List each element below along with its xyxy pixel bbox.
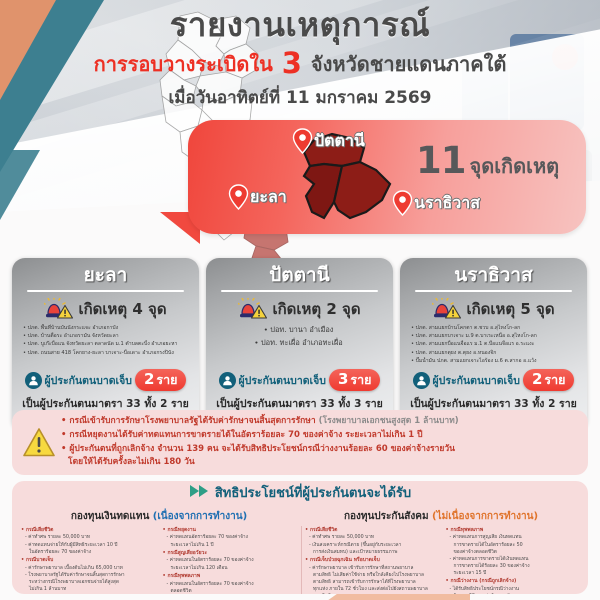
injured-count-unit: ราย	[350, 372, 371, 388]
incident-count-number: 11	[416, 142, 466, 179]
list-item: ค่าทดแทนอัตราร้อยละ 70 ของค่าจ้าง	[167, 534, 297, 541]
list-item: กรณีเข้ารับการรักษาโรงพยาบาลรัฐได้รับค่า…	[61, 415, 459, 429]
list-item: การส่งเงินสมทบ) และเป้าหมายธรรมภาพ	[309, 549, 438, 556]
list-item: ปภต. บูเก๊ะบือแน จังหวัดยะลา ตลาดนัด ม.1…	[23, 340, 191, 348]
province-card-yala[interactable]: ยะลา เกิดเหตุ 4 จุด ปภ	[12, 258, 199, 432]
map-pin-label: นราธิวาส	[414, 191, 480, 216]
list-item: ในอัตราร้อยละ 70 ของค่าจ้าง	[25, 549, 155, 556]
list-item: ไม่เกิน 1 ล้านบาท	[25, 586, 155, 593]
benefits-panel: สิทธิประโยชน์ที่ผู้ประกันตนจะได้รับ กองท…	[12, 481, 588, 594]
benefits-title-row: สิทธิประโยชน์ที่ผู้ประกันตนจะได้รับ	[18, 484, 582, 503]
map-pin-label: ปัตตานี	[314, 129, 365, 154]
card-location-list: ปอท. บานา อำเมือง ปอท. ทะเผื่อ อำเภอทะเผ…	[212, 324, 387, 362]
benefit-group-list: กรณีทุพพลภาพ ค่าทดแทนการสูญเสีย เงินทดแท…	[446, 527, 580, 594]
double-chevron-right-icon	[189, 484, 211, 503]
benefit-detail-list: ค่ารักษาพยาบาล เบื้องต้นไม่เกิน 65,000 บ…	[25, 565, 155, 594]
benefit-detail-list: ค่าทำศพ รายละ 50,000 บาท เงินสงเคราะห์กร…	[309, 534, 438, 556]
list-item: ปภต. ถนนสาย 418 โคกยาง-ยะลา บาเจาะ-บือเด…	[23, 349, 191, 357]
map-pin-pattani[interactable]: ปัตตานี	[292, 128, 365, 154]
subtitle-after-text: จังหวัดชายแดนภาคใต้	[311, 52, 507, 76]
benefit-group: กรณีเสียชีวิต ค่าทำศพ รายละ 50,000 บาท ค…	[21, 527, 155, 556]
benefit-detail-list: ได้รับสิทธิประโยชน์กรณีว่างงาน ร้อยละ 60…	[450, 586, 580, 594]
injured-count-unit: ราย	[544, 372, 565, 388]
list-item: ค่าทดแทนการสูญเสีย เงินทดแทน	[450, 534, 580, 541]
benefit-detail-list: ค่าทำศพ รายละ 50,000 บาท ค่าทดแทนจ่ายให้…	[25, 534, 155, 556]
list-item: โรงพยาบาลรัฐได้รับค่ารักษาจนสิ้นสุดการรั…	[25, 572, 155, 579]
benefit-group-head: กรณีเสียชีวิต	[26, 527, 54, 533]
header: รายงานเหตุการณ์ การรอบวางระเบิดใน 3 จังห…	[0, 6, 600, 111]
list-item: ตลอดชีวิต	[167, 588, 297, 594]
benefit-detail-list: ค่าทดแทนในอัตราร้อยละ 70 ของค่าจ้าง ตลอด…	[167, 581, 297, 594]
benefit-group: กรณีบาดเจ็บ ค่ารักษาพยาบาล เบื้องต้นไม่เ…	[21, 557, 155, 594]
infographic-page: รายงานเหตุการณ์ การรอบวางระเบิดใน 3 จังห…	[0, 0, 600, 600]
person-icon	[219, 372, 236, 389]
benefit-group: กรณีหยุดงาน ค่าทดแทนอัตราร้อยละ 70 ของค่…	[163, 527, 297, 549]
benefit-group-head: กรณีสูญเสียอวัยวะ	[167, 550, 207, 556]
list-item: ค่ารักษาพยาบาล เข้ารับการรักษาที่สถานพยา…	[309, 565, 438, 572]
list-item: ปอท. ทะเผื่อ อำเภอทะเผื่อ	[212, 337, 385, 350]
list-item: ทุกแห่ง ภายใน 72 ชั่วโมง และส่งต่อไปยังส…	[309, 586, 438, 593]
benefits-left-heading: กองทุนเงินทดแทน (เนื่องจากการทำงาน)	[18, 504, 300, 524]
fund-qualifier: (ไม่เนื่องจากการทำงาน)	[432, 511, 538, 522]
list-item: การขาดรายได้ร้อยละ 30 ของค่าจ้าง	[450, 563, 580, 570]
card-title: ปัตตานี	[212, 265, 387, 286]
benefits-column-4: กรณีทุพพลภาพ ค่าทดแทนการสูญเสีย เงินทดแท…	[443, 526, 583, 594]
warning-triangle-icon	[22, 427, 56, 458]
report-date: เมื่อวันอาทิตย์ที่ 11 มกราคม 2569	[0, 84, 600, 111]
fund-name: กองทุนเงินทดแทน	[71, 511, 149, 522]
benefits-column-1: กรณีเสียชีวิต ค่าทำศพ รายละ 50,000 บาท ค…	[18, 526, 158, 594]
card-injured-row: ผู้ประกันตนบาดเจ็บ 3 ราย	[212, 369, 387, 391]
injured-count-badge: 2 ราย	[135, 369, 187, 391]
benefit-group-head: กรณีว่างงาน (กรณีถูกเลิกจ้าง)	[450, 578, 516, 584]
card-divider	[221, 290, 378, 292]
benefits-title: สิทธิประโยชน์ที่ผู้ประกันตนจะได้รับ	[215, 486, 411, 502]
siren-warning-icon	[44, 298, 74, 320]
warning-text: กรณีหยุดงานได้รับค่าทดแทนการขาดรายได้ในอ…	[69, 430, 422, 440]
list-item: การขาดรายได้ในอัตราร้อยละ 50	[450, 542, 580, 549]
map-pin-label: ยะลา	[250, 185, 287, 210]
list-item: ตามสิทธิ ไม่เสียค่าใช้จ่าย หรือใกล้เคียง…	[309, 572, 438, 579]
benefit-group-list: กรณีหยุดงาน ค่าทดแทนอัตราร้อยละ 70 ของค่…	[163, 527, 297, 594]
injured-label: ผู้ประกันตนบาดเจ็บ	[239, 372, 326, 389]
list-item: ผู้ประกันตนที่ถูกเลิกจ้าง จำนวน 139 คน จ…	[61, 443, 459, 457]
benefit-group: กรณีทุพพลภาพ ค่าทดแทนการสูญเสีย เงินทดแท…	[446, 527, 580, 578]
injured-count-unit: ราย	[156, 372, 177, 388]
benefits-column-3: กรณีเสียชีวิต ค่าทำศพ รายละ 50,000 บาท เ…	[301, 526, 441, 594]
card-title: ยะลา	[18, 265, 193, 286]
warning-text: ผู้ประกันตนที่ถูกเลิกจ้าง จำนวน 139 คน จ…	[69, 444, 455, 454]
benefit-group-head: กรณีทุพพลภาพ	[167, 573, 200, 579]
injured-count-number: 2	[532, 370, 542, 389]
list-item: ปอท. บานา อำเมือง	[212, 324, 385, 337]
benefit-detail-list: ค่าทดแทนอัตราร้อยละ 70 ของค่าจ้าง ระยะเว…	[167, 534, 297, 548]
list-item: ค่าทดแทนจ่ายให้กับผู้มีสิทธิระยะเวลา 10 …	[25, 542, 155, 549]
fund-qualifier: (เนื่องจากการทำงาน)	[153, 511, 247, 522]
list-item: ปภต. สามแยกบาเจาะ ม.9 ต.บาเระเหนือ อ.สุไ…	[411, 332, 579, 340]
location-pin-icon	[292, 128, 313, 154]
map-pin-narathiwat[interactable]: นราธิวาส	[392, 190, 480, 216]
benefit-group-list: กรณีเสียชีวิต ค่าทำศพ รายละ 50,000 บาท ค…	[21, 527, 155, 594]
benefit-detail-list: ค่าทดแทนการสูญเสีย เงินทดแทน การขาดรายได…	[450, 534, 580, 577]
list-item: ร้อยละ 60 ของค่าจ้างรายวัน	[450, 593, 580, 594]
benefit-group: กรณีสูญเสียอวัยวะ ค่าทดแทนในอัตราร้อยละ …	[163, 550, 297, 572]
card-location-list: ปภต. พื้นที่บ้านบันนังกระแจะ อำเภอกาบัง …	[18, 324, 193, 362]
province-cards: ยะลา เกิดเหตุ 4 จุด ปภ	[12, 258, 588, 432]
person-icon	[25, 372, 42, 389]
siren-warning-icon	[432, 298, 462, 320]
benefit-group: กรณีเจ็บป่วยฉุกเฉิน หรือบาดเจ็บ ค่ารักษา…	[305, 557, 438, 594]
card-incident-label: เกิดเหตุ 5 จุด	[466, 297, 554, 321]
page-title: รายงานเหตุการณ์	[0, 6, 600, 45]
card-divider	[27, 290, 184, 292]
warning-note: (โรงพยาบาลเอกชนสูงสุด 1 ล้านบาท)	[319, 416, 459, 426]
injured-count-number: 2	[144, 370, 154, 389]
list-item: ค่าทดแทนการขาดรายได้เงินทดแทน	[450, 556, 580, 563]
location-pin-icon	[392, 190, 413, 216]
province-card-pattani[interactable]: ปัตตานี เกิดเหตุ 2 จุด	[206, 258, 393, 432]
person-icon	[413, 372, 430, 389]
subtitle-province-count: 3	[280, 46, 304, 80]
benefit-detail-list: ค่ารักษาพยาบาล เข้ารับการรักษาที่สถานพยา…	[309, 565, 438, 594]
list-item: ตามสิทธิ	[309, 593, 438, 594]
list-item: ปภต. สามแยกบ้านโคกตา ต.ชวบ อ.สุไหงโก-ลก	[411, 324, 579, 332]
benefit-group-head: กรณีหยุดงาน	[167, 527, 196, 533]
injured-count-badge: 3 ราย	[329, 369, 381, 391]
benefit-group-head: กรณีเสียชีวิต	[310, 527, 338, 533]
list-item: ปภต. สามแยกตุยง ต.ตุยง อ.หนองจิก	[411, 349, 579, 357]
card-injured-row: ผู้ประกันตนบาดเจ็บ 2 ราย	[18, 369, 193, 391]
card-incident-row: เกิดเหตุ 5 จุด	[406, 297, 581, 321]
benefits-columns: กรณีเสียชีวิต ค่าทำศพ รายละ 50,000 บาท ค…	[18, 526, 582, 594]
page-subtitle: การรอบวางระเบิดใน 3 จังหวัดชายแดนภาคใต้	[0, 46, 600, 81]
list-item: ระยะเวลาไม่เกิน 120 เดือน	[167, 565, 297, 572]
warning-text: กรณีเข้ารับการรักษาโรงพยาบาลรัฐได้รับค่า…	[69, 416, 315, 426]
map-pin-yala[interactable]: ยะลา	[228, 184, 287, 210]
siren-warning-icon	[238, 298, 268, 320]
card-incident-label: เกิดเหตุ 4 จุด	[78, 297, 166, 321]
benefit-group: กรณีเสียชีวิต ค่าทำศพ รายละ 50,000 บาท เ…	[305, 527, 438, 556]
incident-count-unit: จุดเกิดเหตุ	[470, 150, 560, 182]
list-item: ค่ารักษาพยาบาล เบื้องต้นไม่เกิน 65,000 บ…	[25, 565, 155, 572]
list-item: ของค่าจ้างตลอดชีวิต	[450, 549, 580, 556]
warning-panel: กรณีเข้ารับการรักษาโรงพยาบาลรัฐได้รับค่า…	[12, 410, 588, 475]
warning-continuation: โดยให้ได้รับครั้งละไม่เกิน 180 วัน	[61, 456, 459, 470]
list-item: ค่าทำศพ รายละ 50,000 บาท	[309, 534, 438, 541]
fund-name: กองทุนประกันสังคม	[344, 511, 429, 522]
total-incident-count: 11 จุดเกิดเหตุ	[416, 142, 559, 182]
location-pin-icon	[228, 184, 249, 210]
teal-corner-accent-lower	[0, 150, 40, 220]
list-item: ปภต. สามแยกบือแนจือแร ม.1 ต.บือแนจือแร อ…	[411, 340, 579, 348]
benefit-group: กรณีว่างงาน (กรณีถูกเลิกจ้าง) ได้รับสิทธ…	[446, 578, 580, 594]
warning-list: กรณีเข้ารับการรักษาโรงพยาบาลรัฐได้รับค่า…	[61, 415, 459, 470]
benefits-heading-row: กองทุนเงินทดแทน (เนื่องจากการทำงาน) กองท…	[18, 504, 582, 524]
card-incident-row: เกิดเหตุ 2 จุด	[212, 297, 387, 321]
card-divider	[415, 290, 572, 292]
list-item: ปั๊มน้ำมัน ปภต. สามแยกเจาะไอร้อง ม.6 ต.ส…	[411, 357, 579, 365]
benefit-detail-list: ค่าทดแทนในอัตราร้อยละ 70 ของค่าจ้าง ระยะ…	[167, 557, 297, 571]
benefit-group-head: กรณีทุพพลภาพ	[450, 527, 483, 533]
benefit-group-head: กรณีบาดเจ็บ	[26, 557, 53, 563]
list-item: ระยะเวลาไม่เกิน 1 ปี	[167, 542, 297, 549]
injured-label: ผู้ประกันตนบาดเจ็บ	[433, 372, 520, 389]
benefits-column-2: กรณีหยุดงาน ค่าทดแทนอัตราร้อยละ 70 ของค่…	[160, 526, 300, 594]
benefits-right-heading: กองทุนประกันสังคม (ไม่เนื่องจากการทำงาน)	[300, 504, 582, 524]
benefit-group: กรณีทุพพลภาพ ค่าทดแทนในอัตราร้อยละ 70 ขอ…	[163, 573, 297, 594]
benefit-group-head: กรณีเจ็บป่วยฉุกเฉิน หรือบาดเจ็บ	[310, 557, 380, 563]
card-incident-row: เกิดเหตุ 4 จุด	[18, 297, 193, 321]
card-location-list: ปภต. สามแยกบ้านโคกตา ต.ชวบ อ.สุไหงโก-ลก …	[406, 324, 581, 365]
list-item: ค่าทดแทนในอัตราร้อยละ 70 ของค่าจ้าง	[167, 581, 297, 588]
card-title: นราธิวาส	[406, 265, 581, 286]
list-item: ตามสิทธิ สามารถเข้ารับการรักษาได้ที่โรงพ…	[309, 579, 438, 586]
list-item: ปภต. บ้านตือระ อำเภอรามัน จังหวัดยะลา	[23, 332, 191, 340]
province-card-narathiwat[interactable]: นราธิวาส เกิดเหตุ 5 จุด	[400, 258, 587, 432]
list-item: ค่าทดแทนในอัตราร้อยละ 70 ของค่าจ้าง	[167, 557, 297, 564]
list-item: ระหว่างกรณีโรงพยาบาลเอกชนจ่ายได้สูงสุด	[25, 579, 155, 586]
list-item: ค่าทำศพ รายละ 50,000 บาท	[25, 534, 155, 541]
list-item: ได้รับสิทธิประโยชน์กรณีว่างงาน	[450, 586, 580, 593]
injured-label: ผู้ประกันตนบาดเจ็บ	[45, 372, 132, 389]
list-item: ระยะเวลา 15 ปี	[450, 570, 580, 577]
list-item: ปภต. พื้นที่บ้านบันนังกระแจะ อำเภอกาบัง	[23, 324, 191, 332]
injured-count-number: 3	[338, 370, 348, 389]
benefit-group-list: กรณีเสียชีวิต ค่าทำศพ รายละ 50,000 บาท เ…	[305, 527, 438, 594]
injured-count-badge: 2 ราย	[523, 369, 575, 391]
list-item: เงินสงเคราะห์กรณีตาย (ขึ้นอยู่กับระยะเวล…	[309, 542, 438, 549]
list-item: กรณีหยุดงานได้รับค่าทดแทนการขาดรายได้ในอ…	[61, 429, 459, 443]
card-incident-label: เกิดเหตุ 2 จุด	[272, 297, 360, 321]
card-injured-row: ผู้ประกันตนบาดเจ็บ 2 ราย	[406, 369, 581, 391]
subtitle-before-text: การรอบวางระเบิดใน	[94, 52, 273, 76]
